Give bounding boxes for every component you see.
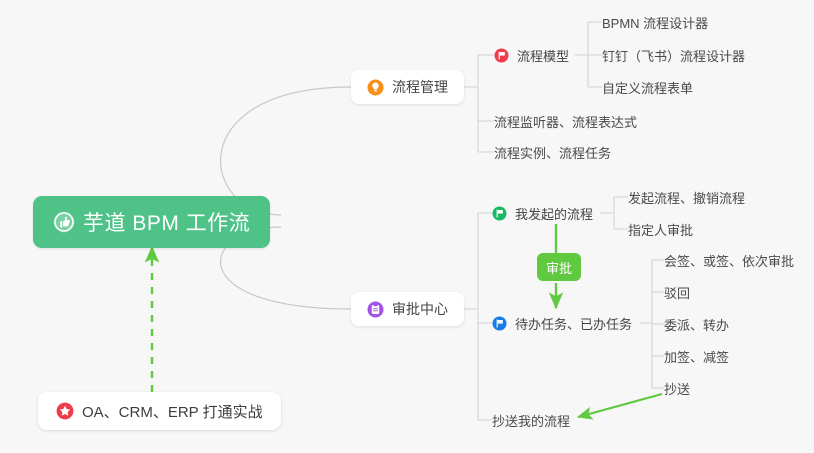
leaf-label: BPMN 流程设计器 bbox=[602, 13, 708, 32]
callout-label: OA、CRM、ERP 打通实战 bbox=[82, 401, 263, 422]
leaf-label: 驳回 bbox=[664, 283, 690, 302]
leaf-start-cancel-process[interactable]: 发起流程、撤销流程 bbox=[628, 186, 745, 208]
clipboard-icon bbox=[367, 301, 384, 318]
thumbs-up-icon bbox=[53, 211, 75, 233]
leaf-dingtalk-feishu-designer[interactable]: 钉钉（飞书）流程设计器 bbox=[602, 44, 745, 66]
node-label: 抄送我的流程 bbox=[492, 411, 570, 430]
node-process-model[interactable]: 流程模型 bbox=[494, 43, 569, 67]
leaf-label: 抄送 bbox=[664, 379, 690, 398]
approval-tag[interactable]: 审批 bbox=[537, 253, 581, 281]
node-my-initiated-process[interactable]: 我发起的流程 bbox=[492, 201, 593, 225]
leaf-delegate-transfer[interactable]: 委派、转办 bbox=[664, 313, 729, 335]
leaf-bpmn-designer[interactable]: BPMN 流程设计器 bbox=[602, 11, 708, 33]
node-label: 流程监听器、流程表达式 bbox=[494, 112, 637, 131]
node-cc-to-me-process[interactable]: 抄送我的流程 bbox=[492, 409, 570, 431]
node-label: 我发起的流程 bbox=[515, 204, 593, 223]
leaf-label: 会签、或签、依次审批 bbox=[664, 251, 794, 270]
leaf-custom-process-form[interactable]: 自定义流程表单 bbox=[602, 76, 693, 98]
branch-process-management[interactable]: 流程管理 bbox=[351, 70, 464, 104]
leaf-assignee-approval[interactable]: 指定人审批 bbox=[628, 218, 693, 240]
node-label: 流程模型 bbox=[517, 46, 569, 65]
branch-approval-center[interactable]: 审批中心 bbox=[351, 292, 464, 326]
leaf-label: 加签、减签 bbox=[664, 347, 729, 366]
star-icon bbox=[56, 402, 74, 420]
branch-label: 流程管理 bbox=[392, 77, 448, 97]
node-label: 流程实例、流程任务 bbox=[494, 143, 611, 162]
root-label: 芋道 BPM 工作流 bbox=[83, 207, 250, 237]
node-todo-done-tasks[interactable]: 待办任务、已办任务 bbox=[492, 311, 632, 335]
leaf-label: 发起流程、撤销流程 bbox=[628, 188, 745, 207]
flag-icon bbox=[492, 316, 507, 331]
bulb-icon bbox=[367, 79, 384, 96]
arrow-cc-to-ccme bbox=[578, 394, 662, 417]
node-label: 待办任务、已办任务 bbox=[515, 314, 632, 333]
leaf-cc[interactable]: 抄送 bbox=[664, 377, 690, 399]
leaf-label: 钉钉（飞书）流程设计器 bbox=[602, 46, 745, 65]
flag-icon bbox=[492, 206, 507, 221]
node-process-listener-expression[interactable]: 流程监听器、流程表达式 bbox=[494, 110, 637, 132]
leaf-label: 自定义流程表单 bbox=[602, 78, 693, 97]
leaf-add-remove-sign[interactable]: 加签、减签 bbox=[664, 345, 729, 367]
root-node[interactable]: 芋道 BPM 工作流 bbox=[33, 196, 270, 248]
mindmap-canvas: 芋道 BPM 工作流 流程管理 流程模型 BPMN 流程设计器 钉钉（飞书）流程… bbox=[0, 0, 814, 453]
leaf-label: 指定人审批 bbox=[628, 220, 693, 239]
branch-label: 审批中心 bbox=[392, 299, 448, 319]
flag-icon bbox=[494, 48, 509, 63]
integration-callout[interactable]: OA、CRM、ERP 打通实战 bbox=[38, 392, 281, 430]
leaf-countersign[interactable]: 会签、或签、依次审批 bbox=[664, 249, 794, 271]
leaf-label: 委派、转办 bbox=[664, 315, 729, 334]
leaf-reject[interactable]: 驳回 bbox=[664, 281, 690, 303]
approval-tag-label: 审批 bbox=[546, 258, 572, 277]
node-process-instance-task[interactable]: 流程实例、流程任务 bbox=[494, 141, 611, 163]
